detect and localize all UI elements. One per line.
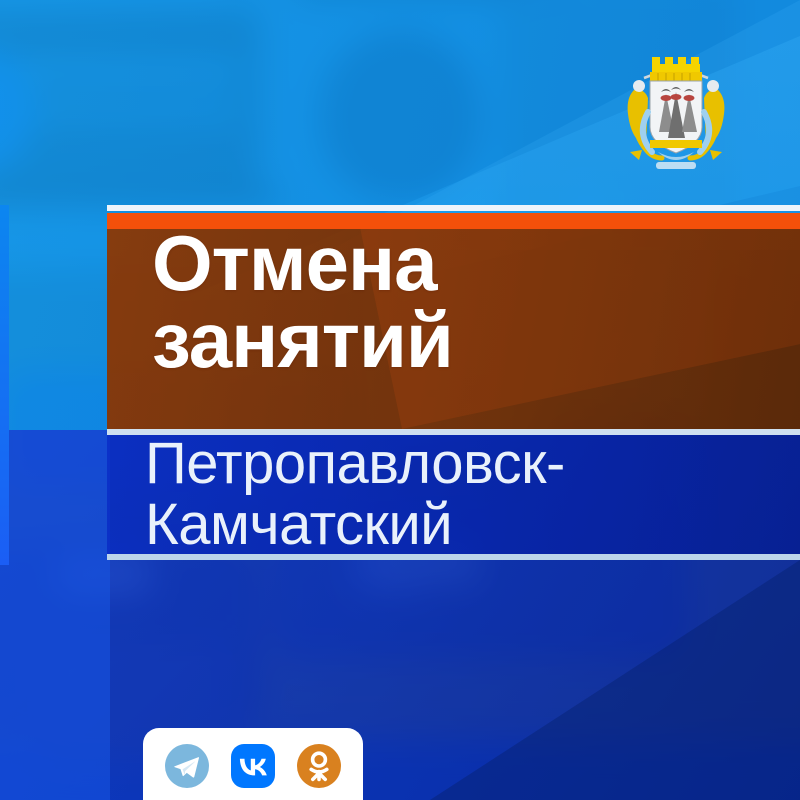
telegram-icon[interactable] bbox=[165, 744, 209, 788]
coat-of-arms-icon bbox=[606, 52, 746, 182]
subtitle-panel: Петропавловск- Камчатский bbox=[107, 435, 800, 555]
banner-top-divider bbox=[107, 205, 800, 211]
subtitle-text: Петропавловск- Камчатский bbox=[145, 435, 565, 555]
headline-text: Отмена занятий bbox=[152, 225, 453, 379]
odnoklassniki-icon[interactable] bbox=[297, 744, 341, 788]
social-bar bbox=[143, 728, 363, 800]
left-edge-accent bbox=[0, 205, 9, 565]
subtitle-bottom-divider bbox=[107, 554, 800, 560]
vk-icon[interactable] bbox=[231, 744, 275, 788]
overlay-left-band bbox=[0, 430, 110, 800]
headline-banner: Отмена занятий bbox=[107, 213, 800, 429]
poster: 1 СЕНТЯБРЯ bbox=[0, 0, 800, 800]
